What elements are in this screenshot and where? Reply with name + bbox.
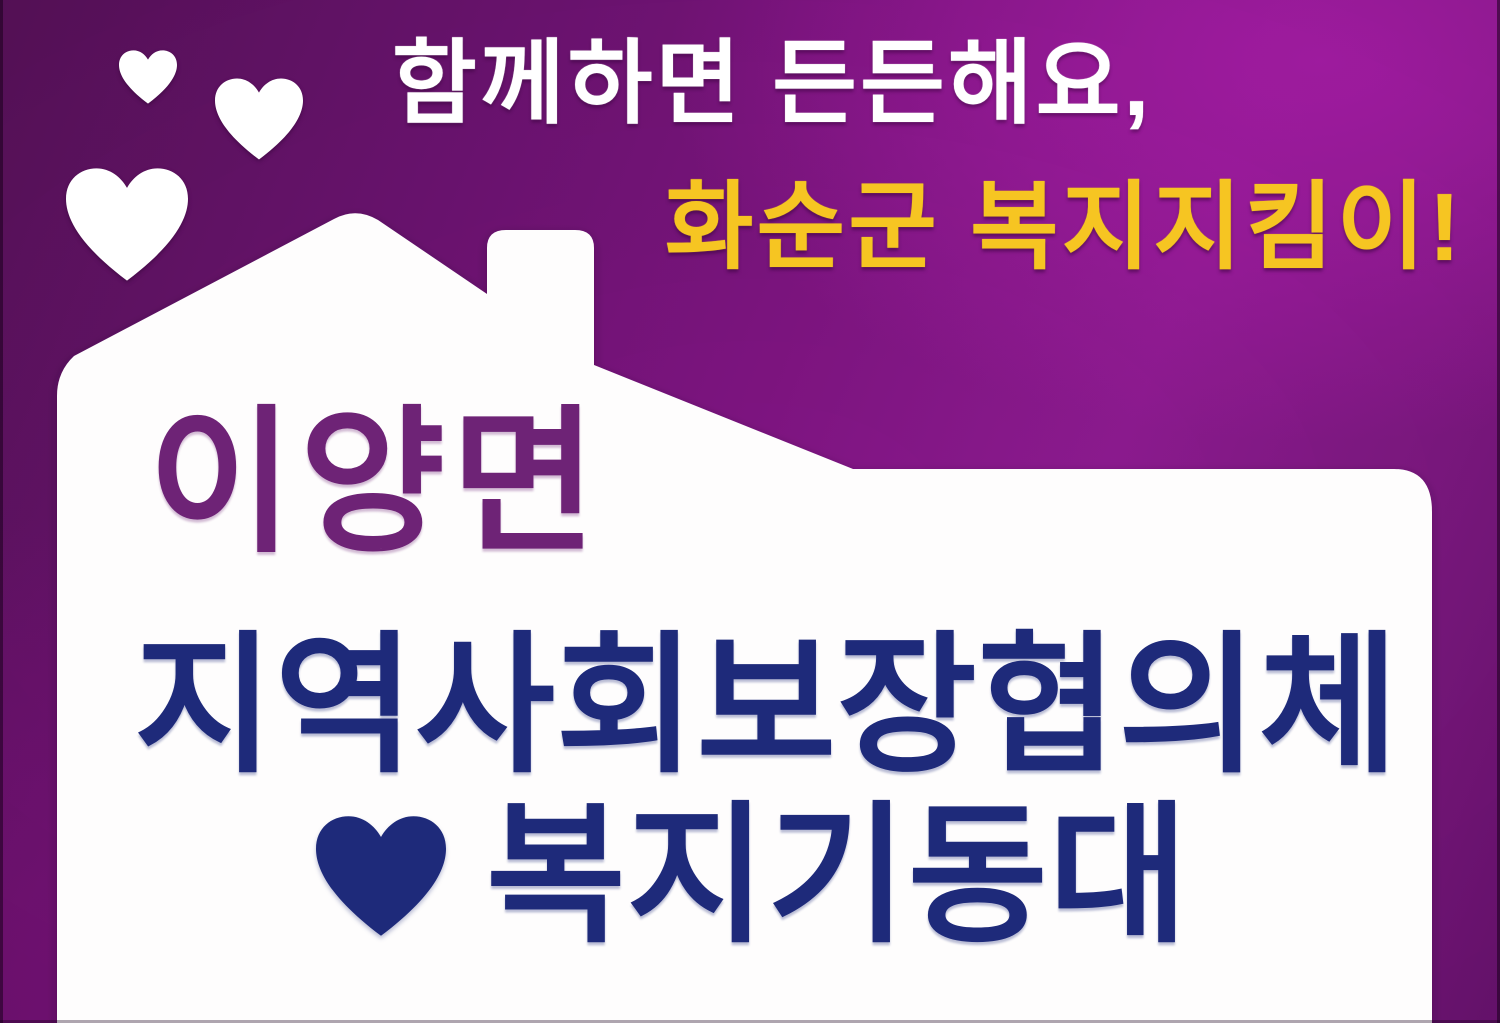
heart-icon [316, 815, 446, 937]
region-name: 이양면 [148, 404, 603, 562]
left-edge-seam [0, 0, 3, 1023]
organization-line-2: 복지기동대 [486, 800, 1189, 952]
heart-small-icon [119, 50, 177, 104]
heart-medium-icon [215, 78, 303, 160]
organization-line-1: 지역사회보장협의체 [134, 630, 1399, 782]
banner-image: 함께하면 든든해요, 화순군 복지지킴이! 이양면 지역사회보장협의체 복지기동… [0, 0, 1500, 1023]
tagline-line-1: 함께하면 든든해요, [392, 38, 1152, 130]
tagline-line-2: 화순군 복지지킴이! [665, 180, 1464, 276]
organization-line-2-row: 복지기동대 [316, 800, 1189, 952]
heart-large-icon [66, 168, 188, 281]
